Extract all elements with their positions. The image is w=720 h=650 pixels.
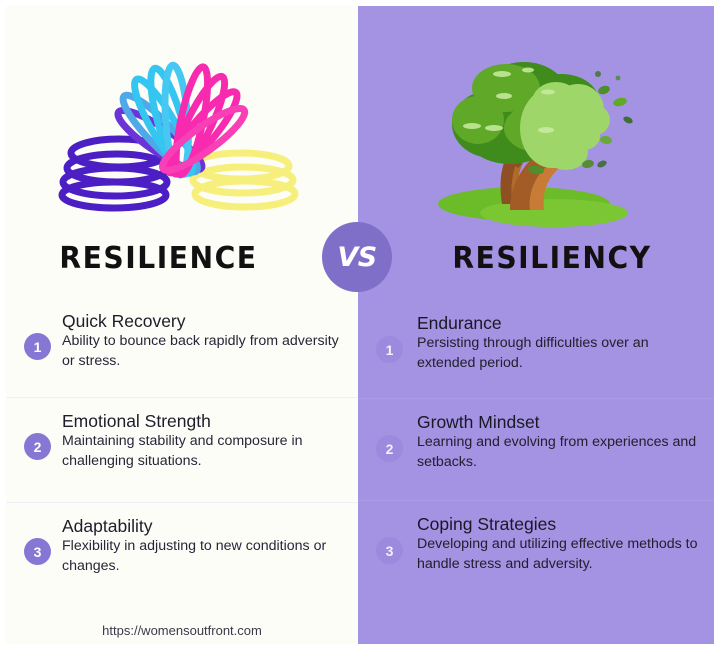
rainbow-slinky-spring-icon bbox=[57, 18, 307, 218]
panel-resilience: RESILIENCE 1 Quick Recovery Ability to b… bbox=[6, 6, 358, 644]
list-item-description: Persisting through difficulties over an … bbox=[417, 334, 698, 373]
list-item-title: Endurance bbox=[417, 312, 698, 334]
list-item-body: Coping Strategies Developing and utilizi… bbox=[417, 513, 698, 574]
list-item-body: Emotional Strength Maintaining stability… bbox=[62, 410, 344, 471]
list-item[interactable]: 1 Endurance Persisting through difficult… bbox=[358, 306, 714, 399]
item-number-badge: 1 bbox=[376, 336, 403, 363]
list-item-title: Adaptability bbox=[62, 515, 344, 537]
list-item-body: Endurance Persisting through difficultie… bbox=[417, 312, 698, 373]
page-title-left: RESILIENCE bbox=[17, 242, 348, 276]
list-item[interactable]: 2 Growth Mindset Learning and evolving f… bbox=[358, 399, 714, 501]
page-title-right: RESILIENCY bbox=[369, 242, 704, 276]
panel-resiliency: RESILIENCY 1 Endurance Persisting throug… bbox=[358, 6, 714, 644]
list-item[interactable]: 3 Adaptability Flexibility in adjusting … bbox=[6, 503, 358, 603]
canopy-light bbox=[520, 82, 610, 170]
list-item-description: Developing and utilizing effective metho… bbox=[417, 535, 698, 574]
vs-badge-label: VS bbox=[337, 242, 376, 273]
list-item[interactable]: 1 Quick Recovery Ability to bounce back … bbox=[6, 302, 358, 398]
feature-list-right: 1 Endurance Persisting through difficult… bbox=[358, 306, 714, 611]
list-item-title: Emotional Strength bbox=[62, 410, 344, 432]
source-url[interactable]: https://womensoutfront.com bbox=[6, 623, 358, 638]
list-item-description: Flexibility in adjusting to new conditio… bbox=[62, 537, 344, 576]
vs-badge: VS bbox=[322, 222, 392, 292]
item-number-badge: 1 bbox=[24, 333, 51, 360]
list-item-body: Adaptability Flexibility in adjusting to… bbox=[62, 515, 344, 576]
item-number-badge: 2 bbox=[24, 433, 51, 460]
item-number-badge: 3 bbox=[24, 538, 51, 565]
item-number-badge: 3 bbox=[376, 537, 403, 564]
list-item-body: Growth Mindset Learning and evolving fro… bbox=[417, 411, 698, 472]
feature-list-left: 1 Quick Recovery Ability to bounce back … bbox=[6, 302, 358, 603]
list-item-description: Learning and evolving from experiences a… bbox=[417, 433, 698, 472]
list-item-title: Coping Strategies bbox=[417, 513, 698, 535]
item-number-badge: 2 bbox=[376, 435, 403, 462]
windblown-trees-icon bbox=[406, 18, 666, 228]
list-item[interactable]: 3 Coping Strategies Developing and utili… bbox=[358, 501, 714, 611]
list-item-title: Quick Recovery bbox=[62, 310, 344, 332]
tree-illustration-container bbox=[358, 18, 714, 236]
list-item-description: Ability to bounce back rapidly from adve… bbox=[62, 332, 344, 371]
list-item[interactable]: 2 Emotional Strength Maintaining stabili… bbox=[6, 398, 358, 503]
list-item-body: Quick Recovery Ability to bounce back ra… bbox=[62, 310, 344, 371]
list-item-title: Growth Mindset bbox=[417, 411, 698, 433]
list-item-description: Maintaining stability and composure in c… bbox=[62, 432, 344, 471]
slinky-illustration-container bbox=[6, 18, 358, 236]
infographic-canvas: RESILIENCE 1 Quick Recovery Ability to b… bbox=[0, 0, 720, 650]
